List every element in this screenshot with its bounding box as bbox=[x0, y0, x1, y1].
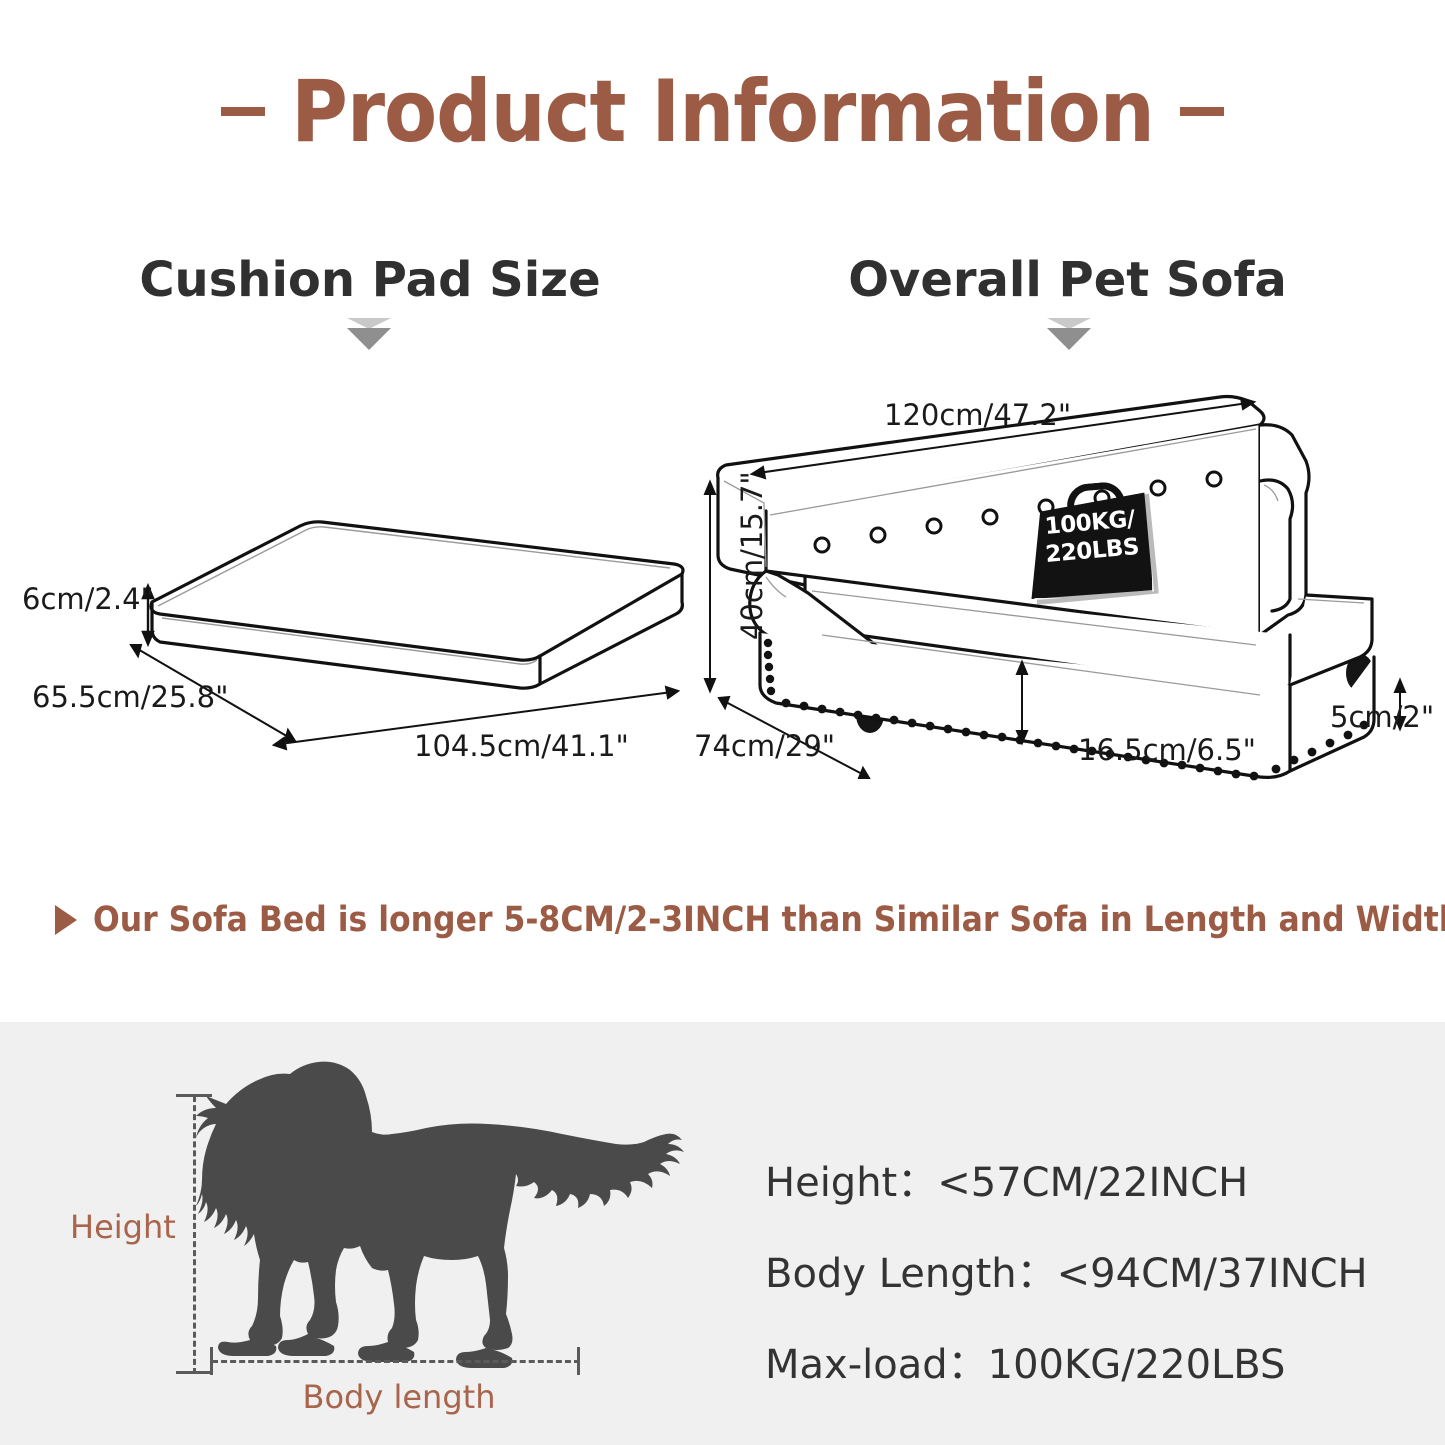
tagline: Our Sofa Bed is longer 5-8CM/2-3INCH tha… bbox=[55, 900, 1415, 940]
title-dash-right bbox=[1180, 107, 1224, 116]
body-length-dimension-line bbox=[212, 1360, 580, 1363]
pet-specs-list: Height：<57CM/22INCH Body Length：<94CM/37… bbox=[765, 1150, 1425, 1423]
page-title: Product Information bbox=[0, 62, 1445, 162]
dog-silhouette-wrap bbox=[196, 1052, 696, 1374]
chevron-lower bbox=[1047, 328, 1091, 350]
cushion-length-label: 104.5cm/41.1" bbox=[414, 729, 629, 763]
weight-bag-icon: 100KG/ 220LBS bbox=[1029, 483, 1159, 605]
triangle-right-icon bbox=[55, 905, 77, 935]
body-length-label: Body length bbox=[214, 1378, 584, 1416]
height-dimension-line bbox=[193, 1096, 198, 1374]
chevron-lower bbox=[347, 328, 391, 350]
cushion-pad-heading: Cushion Pad Size bbox=[30, 252, 710, 308]
tagline-text: Our Sofa Bed is longer 5-8CM/2-3INCH tha… bbox=[93, 900, 1445, 940]
sofa-length-label: 120cm/47.2" bbox=[884, 398, 1071, 432]
cushion-width-label: 65.5cm/25.8" bbox=[32, 680, 228, 714]
sofa-depth-label: 74cm/29" bbox=[694, 729, 835, 763]
double-chevron-down-icon-left bbox=[347, 318, 391, 350]
spec-height: Height：<57CM/22INCH bbox=[765, 1150, 1425, 1208]
sofa-seat-height-label: 16.5cm/6.5" bbox=[1078, 733, 1256, 767]
weight-tag-text: 100KG/ 220LBS bbox=[1027, 504, 1155, 571]
top-section: Product Information Cushion Pad Size Ove… bbox=[0, 0, 1445, 1022]
title-dash-left bbox=[221, 107, 265, 116]
spec-max-load: Max-load：100KG/220LBS bbox=[765, 1332, 1425, 1390]
sofa-height-label: 40cm/15.7" bbox=[735, 471, 769, 640]
spec-body-length: Body Length：<94CM/37INCH bbox=[765, 1241, 1425, 1299]
sofa-foot-height-label: 5cm/2" bbox=[1330, 700, 1434, 734]
page-title-text: Product Information bbox=[291, 62, 1154, 162]
overall-sofa-heading: Overall Pet Sofa bbox=[760, 252, 1375, 308]
double-chevron-down-icon-right bbox=[1047, 318, 1091, 350]
cushion-thickness-label: 6cm/2.4" bbox=[22, 582, 154, 616]
product-information-infographic: Product Information Cushion Pad Size Ove… bbox=[0, 0, 1445, 1445]
golden-retriever-silhouette-icon bbox=[196, 1052, 696, 1374]
height-dimension-cap-bottom bbox=[176, 1371, 212, 1374]
body-length-cap-right bbox=[577, 1347, 580, 1375]
height-label: Height bbox=[70, 1208, 176, 1246]
cushion-pad-drawing bbox=[0, 470, 720, 770]
